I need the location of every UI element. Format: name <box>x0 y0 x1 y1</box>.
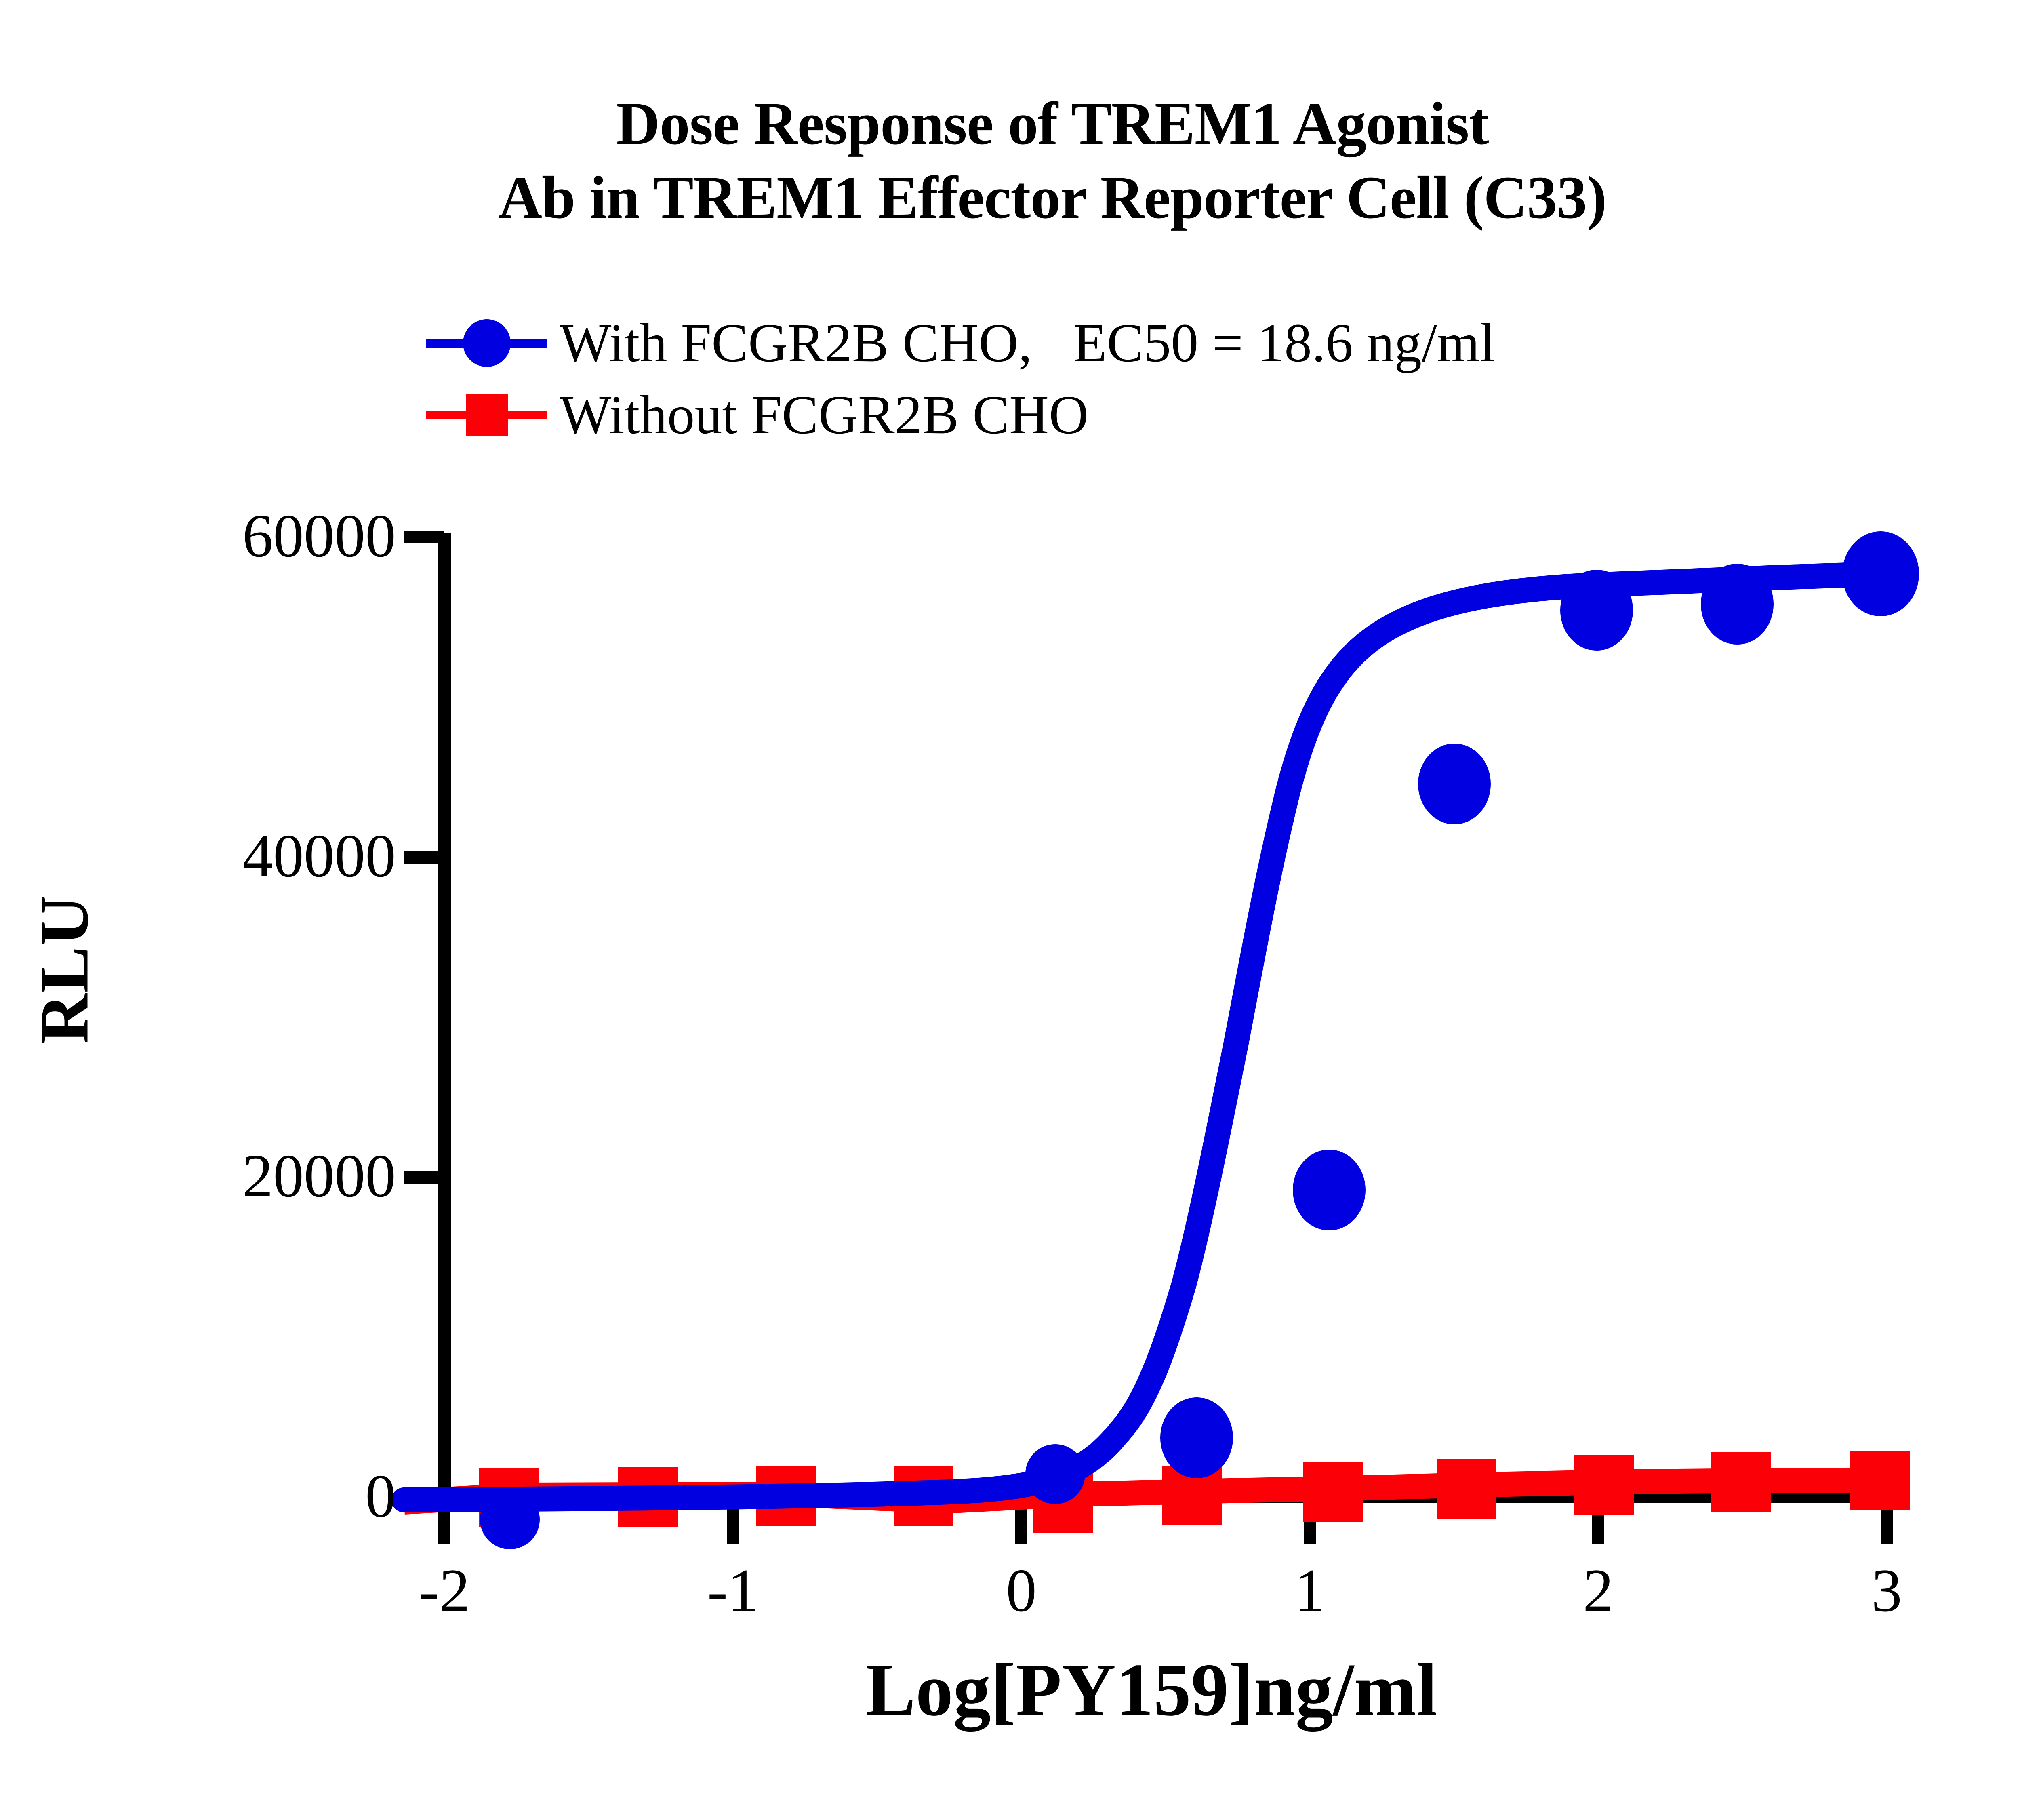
data-marker-circle <box>1418 744 1491 824</box>
data-marker-square <box>1574 1455 1634 1515</box>
data-marker-circle <box>1842 531 1919 616</box>
blue-markers <box>480 531 1919 1549</box>
data-marker-square <box>1437 1459 1496 1519</box>
x-tick-label-2: 2 <box>1534 1560 1663 1621</box>
y-tick-label-40000: 40000 <box>77 825 396 887</box>
series-with-fcgr2b <box>404 531 1919 1549</box>
data-marker-square <box>1850 1451 1910 1510</box>
data-marker-square <box>1711 1452 1771 1512</box>
data-marker-circle <box>1293 1150 1366 1230</box>
x-tick-label-1: 1 <box>1245 1560 1374 1621</box>
x-tick-label-minus2: -2 <box>380 1560 509 1621</box>
y-axis-title: RLU <box>25 808 105 1131</box>
data-marker-circle <box>1025 1444 1085 1504</box>
y-tick-label-60000: 60000 <box>77 505 396 567</box>
plot-area: 60000 40000 20000 0 -2 -1 0 1 2 3 RLU Lo… <box>0 0 2020 1820</box>
y-tick-label-0: 0 <box>77 1465 396 1527</box>
x-tick-label-3: 3 <box>1822 1560 1951 1621</box>
data-marker-circle <box>1160 1397 1233 1478</box>
data-marker-circle <box>480 1489 540 1549</box>
chart-figure: Dose Response of TREM1 Agonist Ab in TRE… <box>0 0 2020 1820</box>
data-marker-circle <box>1701 564 1774 645</box>
x-tick-label-minus1: -1 <box>668 1560 797 1621</box>
blue-line <box>404 574 1883 1500</box>
plot-canvas <box>0 0 2020 1820</box>
x-axis-title: Log[PY159]ng/ml <box>416 1647 1887 1733</box>
x-tick-label-0: 0 <box>957 1560 1086 1621</box>
data-marker-square <box>1303 1462 1363 1522</box>
data-marker-circle <box>1560 570 1633 651</box>
y-tick-label-20000: 20000 <box>77 1145 396 1207</box>
